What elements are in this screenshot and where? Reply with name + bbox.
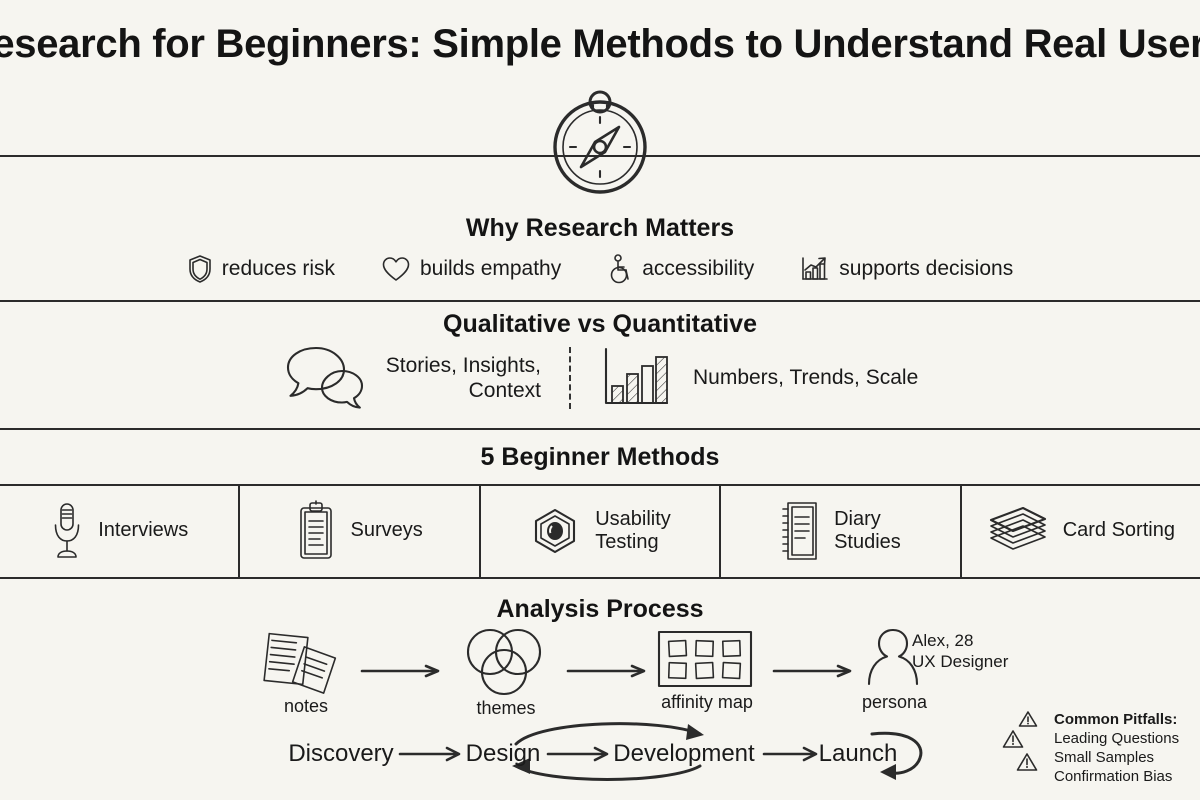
lifecycle-stage-launch: Launch: [819, 740, 898, 768]
warning-triangle-icon: [1016, 752, 1038, 772]
pipeline-arrow-3: [772, 664, 858, 678]
method-cell-card-sorting[interactable]: Card Sorting: [962, 484, 1200, 577]
notebook-icon: [780, 499, 820, 563]
pipeline-step-notes: notes: [258, 626, 354, 717]
divider-rule-1: [0, 155, 1200, 157]
why-item-label: builds empathy: [420, 257, 561, 281]
pitfall-item: Confirmation Bias: [1054, 767, 1179, 786]
pipeline-step-label: affinity map: [655, 692, 759, 713]
qualitative-line-1: Stories, Insights,: [386, 354, 541, 377]
bar-chart-icon: [599, 346, 671, 410]
persona-name-age: Alex, 28: [912, 631, 973, 650]
persona-detail: Alex, 28 UX Designer: [912, 630, 1008, 672]
heart-icon: [381, 255, 411, 283]
shield-icon: [187, 254, 213, 284]
method-cell-interviews[interactable]: Interviews: [0, 484, 240, 577]
method-label: Surveys: [350, 519, 422, 542]
qualitative-side: Stories, Insights, Context: [282, 345, 541, 411]
why-item-reduces-risk: reduces risk: [187, 254, 335, 284]
divider-rule-2: [0, 300, 1200, 302]
method-label-line-2: Studies: [834, 531, 901, 553]
why-item-label: supports decisions: [839, 257, 1013, 281]
pitfall-icon-group: [1000, 710, 1046, 786]
method-label-line-1: Diary: [834, 508, 881, 530]
speech-bubbles-icon: [282, 345, 368, 411]
pipeline-step-themes: themes: [458, 624, 554, 719]
method-label-line-1: Usability: [595, 508, 671, 530]
method-cell-usability-testing[interactable]: Usability Testing: [481, 484, 721, 577]
page-title: User Research for Beginners: Simple Meth…: [0, 22, 1200, 67]
method-label: Diary Studies: [834, 508, 901, 554]
venn-diagram-icon: [458, 624, 554, 696]
why-item-builds-empathy: builds empathy: [381, 255, 561, 283]
pipeline-step-label: persona: [862, 692, 934, 713]
warning-triangle-icon: [1018, 710, 1038, 728]
persona-role: UX Designer: [912, 652, 1008, 671]
pipeline-arrow-2: [566, 664, 652, 678]
analysis-pipeline: notes themes: [0, 622, 1200, 720]
comparison-divider: [569, 347, 571, 409]
method-label-line-2: Testing: [595, 531, 658, 553]
pipeline-step-affinity-map: affinity map: [655, 628, 759, 713]
why-item-supports-decisions: supports decisions: [800, 255, 1013, 283]
method-label: Usability Testing: [595, 508, 671, 554]
card-stack-icon: [987, 504, 1049, 558]
lifecycle-stage-design: Design: [466, 740, 541, 768]
lifecycle-stage-discovery: Discovery: [288, 740, 393, 768]
microphone-icon: [50, 501, 84, 561]
growth-chart-icon: [800, 255, 830, 283]
method-cell-surveys[interactable]: Surveys: [240, 484, 480, 577]
why-research-matters-list: reduces risk builds empathy accessib: [0, 254, 1200, 284]
why-item-label: reduces risk: [222, 257, 335, 281]
clipboard-icon: [296, 500, 336, 562]
infographic-canvas: User Research for Beginners: Simple Meth…: [0, 0, 1200, 800]
qualitative-text: Stories, Insights, Context: [386, 353, 541, 403]
accessibility-icon: [607, 254, 633, 284]
qualitative-line-2: Context: [469, 379, 541, 402]
method-label: Interviews: [98, 519, 188, 542]
section-heading-methods: 5 Beginner Methods: [481, 443, 720, 472]
section-heading-why: Why Research Matters: [466, 214, 734, 243]
qual-quant-comparison: Stories, Insights, Context: [0, 342, 1200, 414]
divider-rule-3: [0, 428, 1200, 430]
quantitative-side: Numbers, Trends, Scale: [599, 346, 918, 410]
documents-icon: [258, 626, 354, 694]
pitfall-item: Leading Questions: [1054, 729, 1179, 748]
warning-triangle-icon: [1002, 729, 1024, 749]
affinity-map-icon: [655, 628, 759, 690]
divider-rule-5: [0, 577, 1200, 579]
section-heading-analysis: Analysis Process: [496, 595, 703, 624]
pipeline-arrow-1: [360, 664, 446, 678]
common-pitfalls-block: Common Pitfalls: Leading Questions Small…: [1000, 710, 1179, 786]
pitfall-text-list: Common Pitfalls: Leading Questions Small…: [1054, 710, 1179, 786]
compass-icon: [545, 81, 655, 199]
lifecycle-stage-development: Development: [613, 740, 754, 768]
eye-icon: [529, 507, 581, 555]
why-item-label: accessibility: [642, 257, 754, 281]
why-item-accessibility: accessibility: [607, 254, 754, 284]
pitfall-item: Small Samples: [1054, 748, 1179, 767]
method-label: Card Sorting: [1063, 519, 1175, 542]
method-cell-diary-studies[interactable]: Diary Studies: [721, 484, 961, 577]
quantitative-text: Numbers, Trends, Scale: [693, 366, 918, 390]
pitfalls-title: Common Pitfalls:: [1054, 710, 1179, 729]
methods-grid: Interviews Surveys: [0, 484, 1200, 577]
section-heading-qual-quant: Qualitative vs Quantitative: [443, 310, 757, 339]
